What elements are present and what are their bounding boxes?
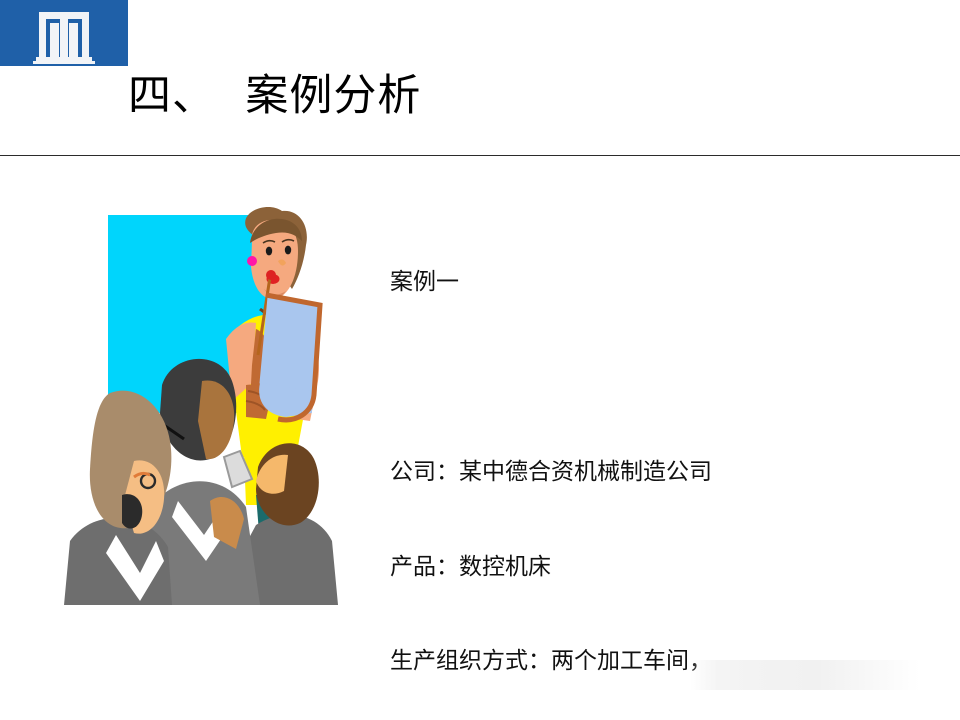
body-line: 公司：某中德合资机械制造公司 <box>390 457 960 489</box>
presentation-slide: 四、 案例分析 <box>0 0 960 720</box>
title-divider <box>0 155 960 156</box>
gate-building-logo-icon <box>0 0 128 66</box>
page-title: 四、 案例分析 <box>128 70 828 122</box>
body-line: 产品：数控机床 <box>390 552 960 584</box>
company-logo <box>0 0 128 66</box>
body-line-blank <box>390 362 960 394</box>
clipboard-shape <box>260 297 318 391</box>
slide-body-text: 案例一 公司：某中德合资机械制造公司 产品：数控机床 生产组织方式：两个加工车间… <box>390 204 960 720</box>
earring-shape <box>247 256 257 266</box>
body-line: 案例一 <box>390 267 960 299</box>
page-watermark <box>690 660 920 690</box>
meeting-presentation-clipart <box>60 205 350 605</box>
